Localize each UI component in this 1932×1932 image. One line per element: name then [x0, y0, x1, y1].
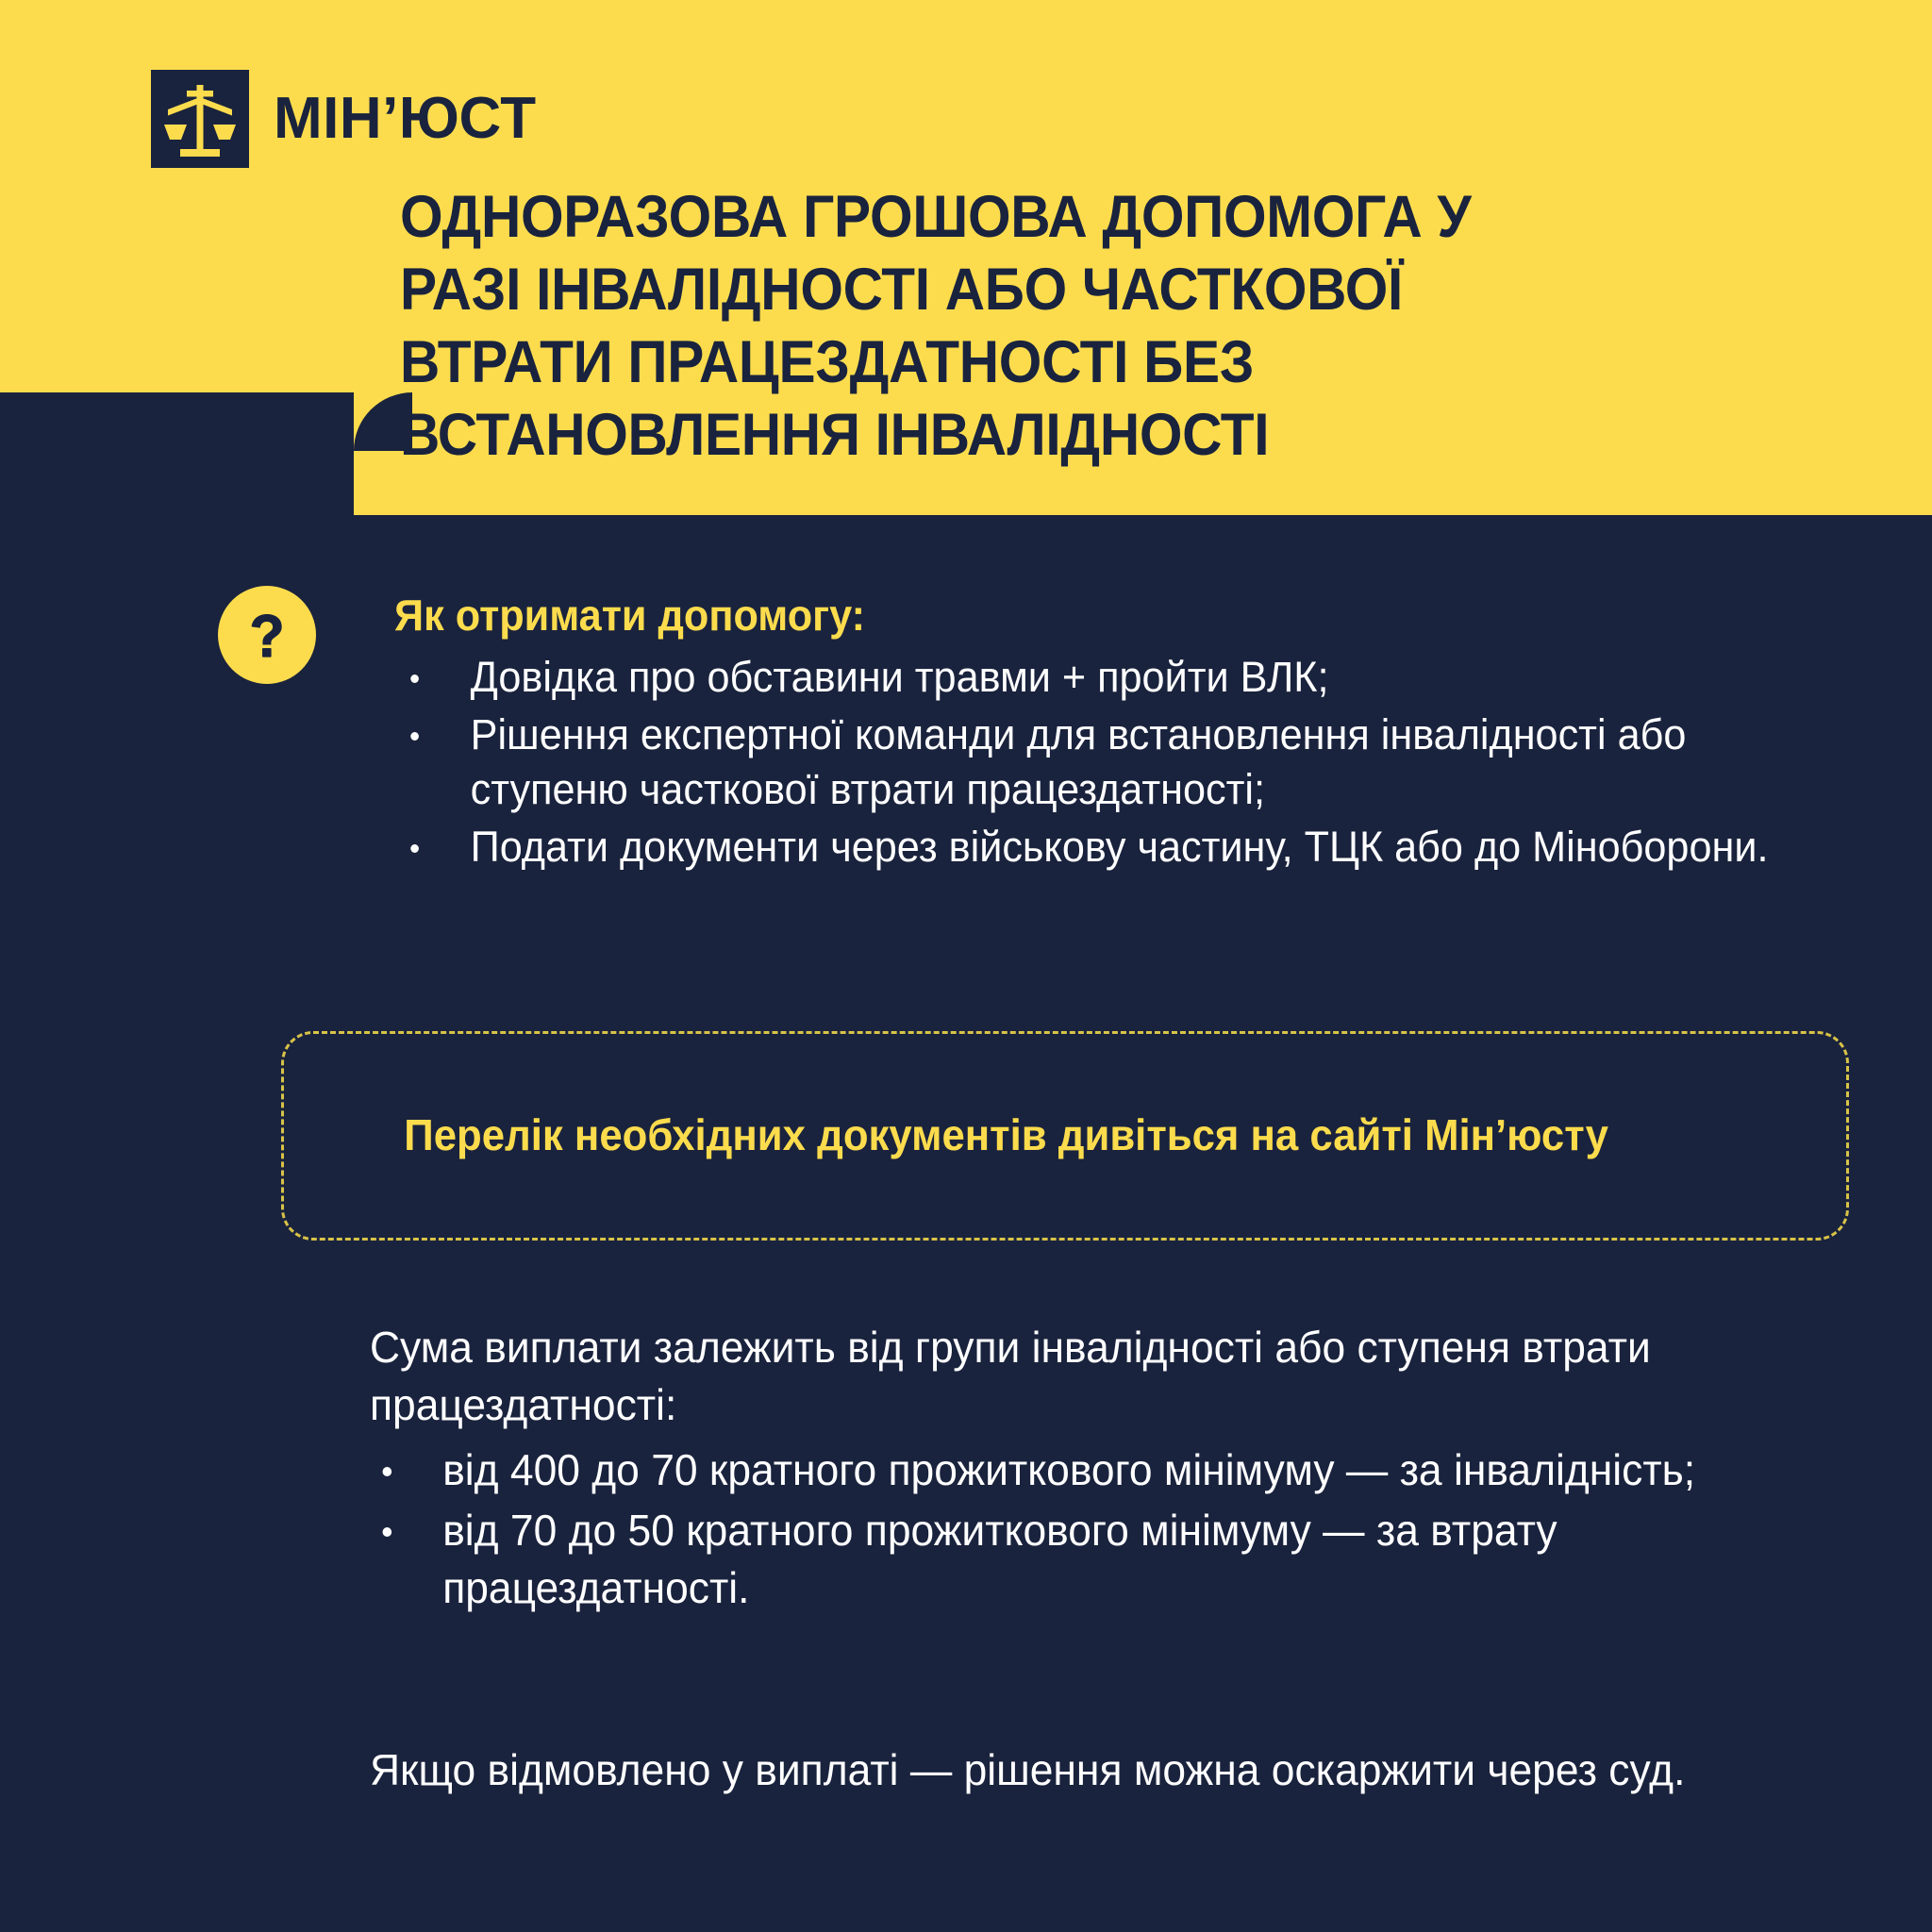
howto-heading: Як отримати допомогу: [394, 590, 1777, 641]
howto-list: Довідка про обставини травми + пройти ВЛ… [394, 650, 1866, 874]
amounts-section: Сума виплати залежить від групи інвалідн… [370, 1319, 1860, 1619]
amounts-lead: Сума виплати залежить від групи інвалідн… [370, 1319, 1808, 1434]
list-item: Довідка про обставини травми + пройти ВЛ… [394, 650, 1807, 706]
list-item: Подати документи через військову частину… [394, 820, 1807, 875]
title-line-2: РАЗІ ІНВАЛІДНОСТІ АБО ЧАСТКОВОЇ [400, 254, 1734, 326]
question-mark-icon [239, 607, 295, 663]
title-line-4: ВСТАНОВЛЕННЯ ІНВАЛІДНОСТІ [400, 399, 1734, 472]
logo-wordmark: МІН’ЮСТ [274, 90, 537, 148]
infographic-page: МІН’ЮСТ ОДНОРАЗОВА ГРОШОВА ДОПОМОГА У РА… [0, 0, 1932, 1932]
amounts-list: від 400 до 70 кратного прожиткового міні… [370, 1441, 1860, 1617]
list-item: від 400 до 70 кратного прожиткового міні… [370, 1441, 1808, 1499]
question-mark-badge [218, 586, 316, 684]
title-line-1: ОДНОРАЗОВА ГРОШОВА ДОПОМОГА У [400, 181, 1734, 254]
list-item: Рішення експертної команди для встановле… [394, 708, 1807, 818]
appeal-note-text: Якщо відмовлено у виплаті — рішення можн… [370, 1741, 1808, 1799]
title-line-3: ВТРАТИ ПРАЦЕЗДАТНОСТІ БЕЗ [400, 326, 1734, 399]
page-title: ОДНОРАЗОВА ГРОШОВА ДОПОМОГА У РАЗІ ІНВАЛ… [400, 181, 1834, 471]
documents-callout-text: Перелік необхідних документів дивіться н… [284, 1108, 1652, 1164]
list-item: від 70 до 50 кратного прожиткового мінім… [370, 1502, 1808, 1617]
howto-section: Як отримати допомогу: Довідка про обстав… [394, 590, 1866, 876]
brand-logo: МІН’ЮСТ [151, 70, 537, 168]
scales-of-justice-icon [151, 70, 249, 168]
appeal-note: Якщо відмовлено у виплаті — рішення можн… [370, 1741, 1860, 1799]
documents-callout[interactable]: Перелік необхідних документів дивіться н… [281, 1031, 1849, 1241]
